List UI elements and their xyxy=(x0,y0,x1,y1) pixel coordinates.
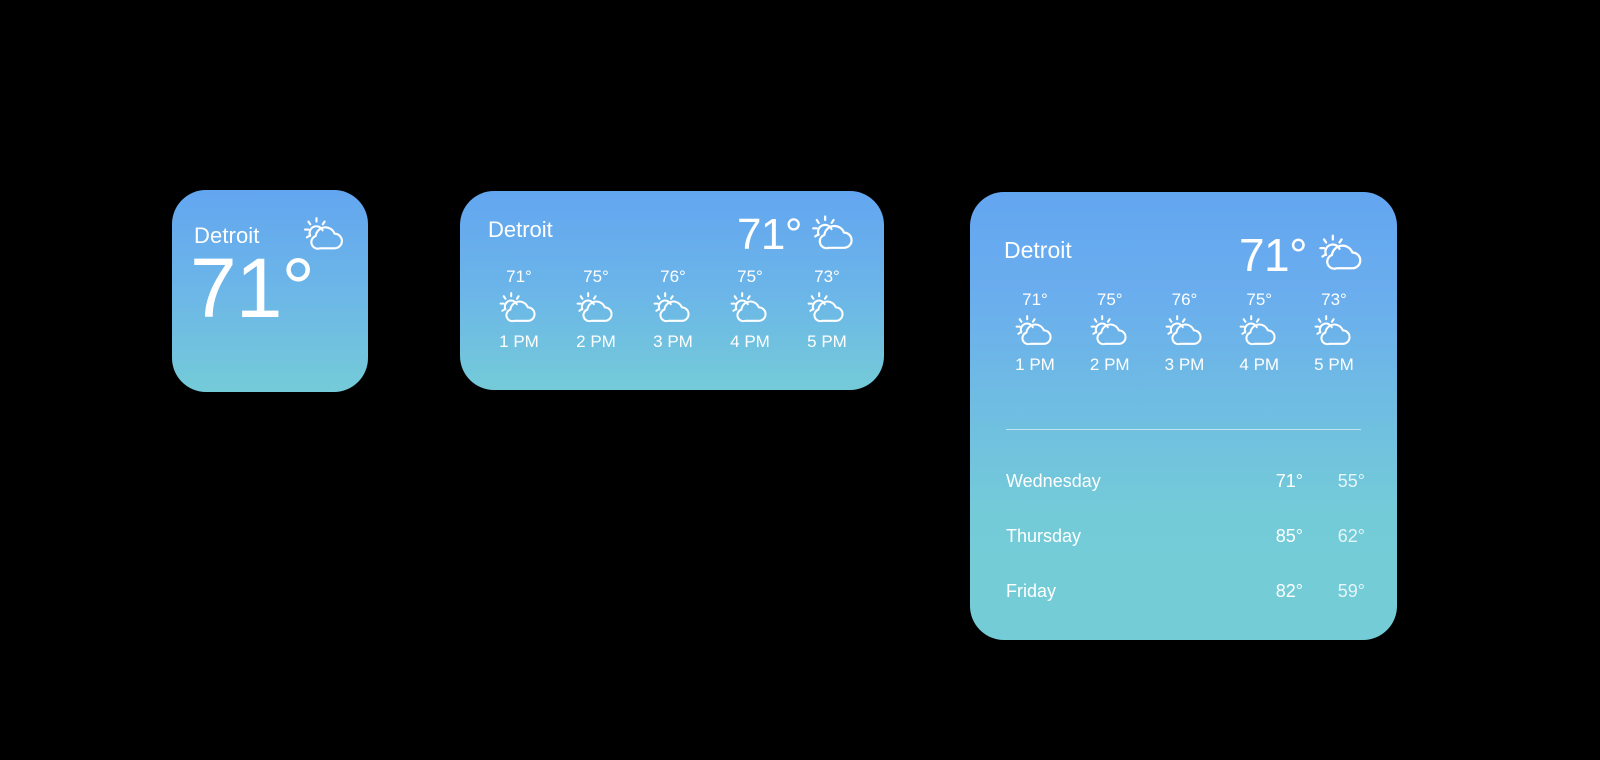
sun-behind-cloud-icon xyxy=(727,291,773,328)
hour-temperature: 73° xyxy=(814,267,840,287)
hour-temperature: 71° xyxy=(506,267,532,287)
sun-behind-cloud-icon xyxy=(496,291,542,328)
hourly-forecast-item: 71° 1 PM xyxy=(1000,290,1070,375)
sun-behind-cloud-icon xyxy=(1315,233,1369,277)
day-low-temperature: 55° xyxy=(1303,471,1365,492)
current-conditions: 71° xyxy=(737,213,860,257)
hour-label: 2 PM xyxy=(1090,355,1130,375)
hour-temperature: 76° xyxy=(660,267,686,287)
widget-gallery-canvas: Detroit 71° Detroit xyxy=(0,0,1600,760)
hourly-forecast-item: 76° 3 PM xyxy=(1150,290,1220,375)
hour-label: 1 PM xyxy=(1015,355,1055,375)
section-divider xyxy=(1006,429,1361,430)
sun-behind-cloud-icon xyxy=(1162,314,1208,351)
hourly-forecast-item: 73° 5 PM xyxy=(792,267,862,352)
current-temperature: 71° xyxy=(737,213,802,257)
hourly-forecast-item: 71° 1 PM xyxy=(484,267,554,352)
hourly-forecast-item: 75° 4 PM xyxy=(1224,290,1294,375)
sun-behind-cloud-icon xyxy=(808,214,860,256)
city-name: Detroit xyxy=(488,213,553,247)
hour-label: 4 PM xyxy=(730,332,770,352)
medium-widget-header: Detroit 71° xyxy=(488,213,860,257)
daily-forecast-row: Friday 82° 59° xyxy=(1006,564,1365,619)
sun-behind-cloud-icon xyxy=(1311,314,1357,351)
sun-behind-cloud-icon xyxy=(1087,314,1133,351)
current-temperature: 71° xyxy=(190,242,314,334)
daily-forecast-list: Wednesday 71° 55° Thursday 85° 62° Frida… xyxy=(1006,454,1365,619)
sun-behind-cloud-icon xyxy=(1012,314,1058,351)
hourly-forecast-row: 71° 1 PM xyxy=(1000,290,1369,375)
hour-label: 5 PM xyxy=(1314,355,1354,375)
hourly-forecast-item: 73° 5 PM xyxy=(1299,290,1369,375)
day-low-temperature: 59° xyxy=(1303,581,1365,602)
large-widget-header: Detroit 71° xyxy=(1004,232,1369,278)
hour-label: 5 PM xyxy=(807,332,847,352)
hour-label: 2 PM xyxy=(576,332,616,352)
hour-temperature: 75° xyxy=(583,267,609,287)
day-high-temperature: 82° xyxy=(1241,581,1303,602)
daily-forecast-row: Wednesday 71° 55° xyxy=(1006,454,1365,509)
weather-widget-small[interactable]: Detroit 71° xyxy=(172,190,368,392)
hour-temperature: 75° xyxy=(1246,290,1272,310)
sun-behind-cloud-icon xyxy=(573,291,619,328)
day-low-temperature: 62° xyxy=(1303,526,1365,547)
day-name: Wednesday xyxy=(1006,471,1241,492)
hourly-forecast-item: 75° 2 PM xyxy=(1075,290,1145,375)
hour-temperature: 73° xyxy=(1321,290,1347,310)
hourly-forecast-item: 76° 3 PM xyxy=(638,267,708,352)
sun-behind-cloud-icon xyxy=(804,291,850,328)
hour-temperature: 71° xyxy=(1022,290,1048,310)
weather-widget-large[interactable]: Detroit 71° xyxy=(970,192,1397,640)
daily-forecast-row: Thursday 85° 62° xyxy=(1006,509,1365,564)
hourly-forecast-item: 75° 4 PM xyxy=(715,267,785,352)
day-name: Friday xyxy=(1006,581,1241,602)
hour-label: 3 PM xyxy=(1165,355,1205,375)
hour-label: 4 PM xyxy=(1239,355,1279,375)
day-name: Thursday xyxy=(1006,526,1241,547)
hourly-forecast-row: 71° 1 PM xyxy=(484,267,862,352)
current-conditions: 71° xyxy=(1239,232,1369,278)
hour-temperature: 75° xyxy=(737,267,763,287)
day-high-temperature: 85° xyxy=(1241,526,1303,547)
weather-widget-medium[interactable]: Detroit 71° xyxy=(460,191,884,390)
hour-temperature: 75° xyxy=(1097,290,1123,310)
sun-behind-cloud-icon xyxy=(650,291,696,328)
hour-label: 3 PM xyxy=(653,332,693,352)
hour-temperature: 76° xyxy=(1172,290,1198,310)
current-temperature: 71° xyxy=(1239,232,1307,278)
hourly-forecast-item: 75° 2 PM xyxy=(561,267,631,352)
city-name: Detroit xyxy=(1004,232,1072,268)
hour-label: 1 PM xyxy=(499,332,539,352)
day-high-temperature: 71° xyxy=(1241,471,1303,492)
sun-behind-cloud-icon xyxy=(1236,314,1282,351)
